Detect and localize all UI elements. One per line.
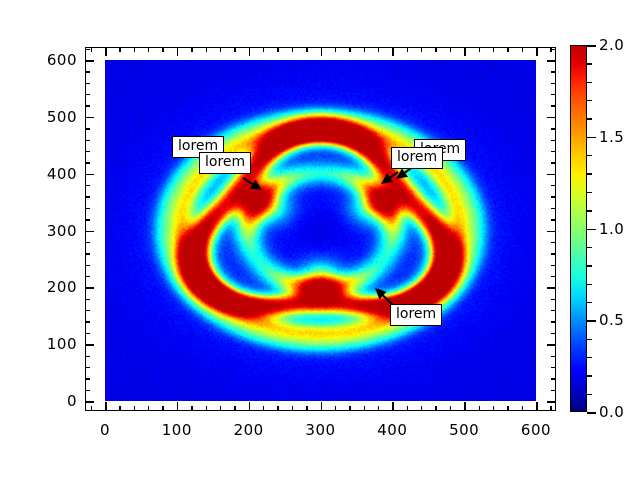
axis-tick (85, 287, 94, 289)
axis-tick (522, 47, 523, 52)
axis-tick (464, 402, 466, 411)
axis-tick (234, 406, 235, 411)
axis-tick (85, 356, 90, 357)
axis-tick (85, 401, 94, 403)
axis-tick (550, 406, 551, 411)
x-tick-label: 500 (449, 421, 479, 439)
axis-tick (91, 47, 92, 52)
axis-tick (191, 47, 192, 52)
axis-tick (85, 276, 90, 277)
axis-tick (321, 402, 323, 411)
axis-tick (551, 71, 556, 72)
colorbar-tick (587, 265, 592, 266)
axis-tick (85, 128, 90, 129)
axis-tick (85, 140, 90, 141)
axis-tick (547, 231, 556, 233)
axis-tick (335, 406, 336, 411)
figure-canvas: 01002003004005006000100200300400500600 0… (0, 0, 640, 480)
annotation-label-a5[interactable]: lorem (390, 304, 442, 326)
axis-tick (206, 47, 207, 52)
axis-tick (277, 406, 278, 411)
axis-tick (522, 406, 523, 411)
colorbar (570, 45, 587, 412)
colorbar-tick (587, 394, 592, 395)
axis-tick (551, 242, 556, 243)
y-tick-label: 400 (33, 165, 77, 183)
axis-tick (85, 105, 90, 106)
axis-tick (91, 406, 92, 411)
colorbar-tick (587, 357, 592, 358)
axis-tick (85, 49, 90, 50)
axis-tick (85, 310, 90, 311)
axis-tick (536, 47, 538, 56)
axis-tick (450, 47, 451, 52)
axis-tick (85, 378, 90, 379)
axis-tick (85, 367, 90, 368)
axis-tick (277, 47, 278, 52)
colorbar-tick (587, 173, 592, 174)
axis-tick (551, 83, 556, 84)
x-tick-label: 200 (234, 421, 264, 439)
axis-tick (85, 299, 90, 300)
x-tick-label: 300 (305, 421, 335, 439)
axis-tick (292, 47, 293, 52)
axis-tick (263, 406, 264, 411)
axis-tick (85, 83, 90, 84)
axis-tick (85, 162, 90, 163)
axis-tick (364, 47, 365, 52)
axis-tick (551, 299, 556, 300)
axis-tick (306, 406, 307, 411)
colorbar-major-tick (587, 412, 596, 414)
axis-tick (407, 406, 408, 411)
axis-tick (220, 406, 221, 411)
axis-tick (85, 117, 94, 119)
colorbar-tick (587, 284, 592, 285)
axis-tick (119, 406, 120, 411)
axis-tick (551, 94, 556, 95)
axis-tick (551, 310, 556, 311)
axis-tick (392, 402, 394, 411)
axis-tick (85, 60, 94, 62)
axis-tick (450, 406, 451, 411)
axis-tick (464, 47, 466, 56)
x-tick-label: 100 (162, 421, 192, 439)
colorbar-tick (587, 155, 592, 156)
colorbar-tick (587, 302, 592, 303)
axis-tick (292, 406, 293, 411)
axis-tick (547, 344, 556, 346)
axis-tick (85, 390, 90, 391)
axis-tick (119, 47, 120, 52)
colorbar-tick (587, 339, 592, 340)
axis-tick (148, 47, 149, 52)
colorbar-major-tick (587, 229, 596, 231)
axis-tick (392, 47, 394, 56)
axis-tick (551, 321, 556, 322)
axis-tick (507, 47, 508, 52)
axis-tick (85, 231, 94, 233)
axis-tick (551, 196, 556, 197)
axis-tick (105, 402, 107, 411)
axis-tick (364, 406, 365, 411)
axis-tick (249, 402, 251, 411)
axis-tick (479, 47, 480, 52)
axis-tick (507, 406, 508, 411)
axis-tick (551, 367, 556, 368)
axis-tick (551, 333, 556, 334)
colorbar-tick-label: 2.0 (599, 36, 624, 54)
axis-tick (85, 253, 90, 254)
colorbar-tick (587, 192, 592, 193)
axis-tick (134, 47, 135, 52)
axis-tick (85, 265, 90, 266)
axis-tick (85, 219, 90, 220)
colorbar-tick (587, 210, 592, 211)
axis-tick (85, 94, 90, 95)
y-tick-label: 100 (33, 335, 77, 353)
axis-tick (378, 47, 379, 52)
axis-tick (177, 402, 179, 411)
y-tick-label: 500 (33, 108, 77, 126)
y-tick-label: 0 (33, 392, 77, 410)
axis-tick (493, 47, 494, 52)
colorbar-tick-label: 0.0 (599, 403, 624, 421)
annotation-label-a4[interactable]: lorem (391, 147, 443, 169)
colorbar-major-tick (587, 320, 596, 322)
axis-tick (349, 47, 350, 52)
axis-tick (551, 253, 556, 254)
axis-tick (162, 406, 163, 411)
axis-tick (177, 47, 179, 56)
axis-tick (335, 47, 336, 52)
x-tick-label: 0 (100, 421, 110, 439)
axis-tick (85, 242, 90, 243)
x-tick-label: 600 (521, 421, 551, 439)
axis-tick (551, 390, 556, 391)
axis-tick (421, 47, 422, 52)
axis-tick (551, 128, 556, 129)
axis-tick (85, 333, 90, 334)
colorbar-tick (587, 247, 592, 248)
colorbar-gradient (570, 45, 587, 412)
y-tick-label: 600 (33, 51, 77, 69)
axis-tick (551, 162, 556, 163)
heatmap-image (105, 60, 536, 401)
axis-tick (547, 401, 556, 403)
axis-tick (321, 47, 323, 56)
colorbar-tick (587, 375, 592, 376)
colorbar-major-tick (587, 45, 596, 47)
axis-tick (85, 321, 90, 322)
y-tick-label: 200 (33, 278, 77, 296)
axis-tick (85, 151, 90, 152)
axis-tick (435, 406, 436, 411)
axis-tick (551, 151, 556, 152)
axis-tick (105, 47, 107, 56)
axis-tick (162, 47, 163, 52)
y-tick-label: 300 (33, 222, 77, 240)
axis-tick (435, 47, 436, 52)
axis-tick (551, 265, 556, 266)
axis-tick (148, 406, 149, 411)
axis-tick (349, 406, 350, 411)
axis-tick (85, 344, 94, 346)
axis-tick (85, 196, 90, 197)
axis-tick (551, 219, 556, 220)
axis-tick (306, 47, 307, 52)
axis-tick (220, 47, 221, 52)
axis-tick (547, 174, 556, 176)
axis-tick (85, 174, 94, 176)
axis-tick (551, 356, 556, 357)
axis-tick (234, 47, 235, 52)
colorbar-tick-label: 1.0 (599, 220, 624, 238)
axis-tick (85, 185, 90, 186)
axis-tick (547, 287, 556, 289)
colorbar-major-tick (587, 137, 596, 139)
axis-tick (249, 47, 251, 56)
axis-tick (206, 406, 207, 411)
axis-tick (551, 208, 556, 209)
axis-tick (547, 117, 556, 119)
axis-tick (551, 49, 556, 50)
axis-tick (547, 60, 556, 62)
colorbar-tick-label: 1.5 (599, 128, 624, 146)
colorbar-tick (587, 100, 592, 101)
colorbar-tick (587, 118, 592, 119)
annotation-label-a2[interactable]: lorem (199, 152, 251, 174)
axis-tick (551, 276, 556, 277)
axis-tick (421, 406, 422, 411)
axis-tick (551, 185, 556, 186)
axis-tick (407, 47, 408, 52)
axis-tick (191, 406, 192, 411)
axis-tick (479, 406, 480, 411)
colorbar-tick (587, 63, 592, 64)
axis-tick (85, 71, 90, 72)
axis-tick (378, 406, 379, 411)
axis-tick (85, 208, 90, 209)
axis-tick (493, 406, 494, 411)
axis-tick (536, 402, 538, 411)
colorbar-tick (587, 82, 592, 83)
axis-tick (263, 47, 264, 52)
x-tick-label: 400 (377, 421, 407, 439)
axis-tick (134, 406, 135, 411)
axis-tick (551, 140, 556, 141)
axis-tick (551, 378, 556, 379)
axis-tick (551, 105, 556, 106)
colorbar-tick-label: 0.5 (599, 311, 624, 329)
